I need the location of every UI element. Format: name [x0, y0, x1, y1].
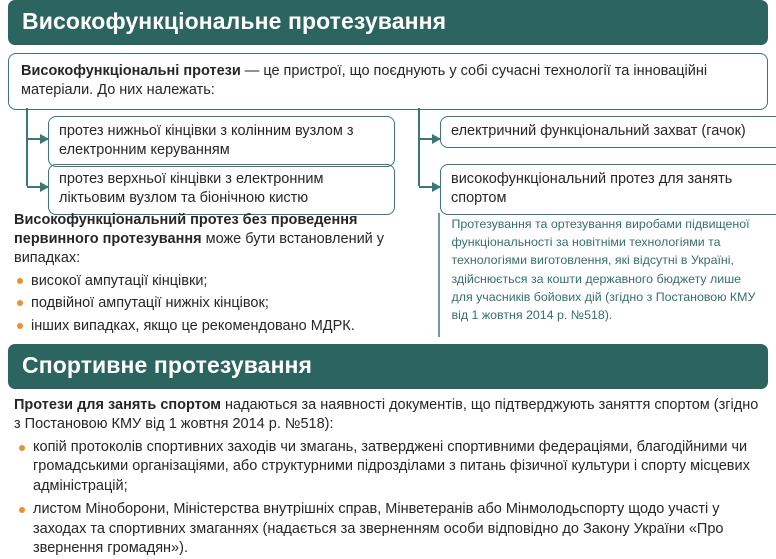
conditions-bullet-2: подвійної ампутації нижніх кінцівок;	[31, 295, 269, 311]
middle-two-column-block: Високофункціональний протез без проведен…	[8, 211, 768, 337]
funding-note-box: Протезування та ортезування виробами під…	[440, 211, 769, 324]
section-header-high-function: Високофункціональне протезування	[8, 0, 768, 45]
intro-bold-term: Високофункціональні протези	[21, 63, 241, 79]
branch-node-right-2: високофункціональний протез для занять с…	[440, 164, 776, 215]
list-item: високої ампутації кінцівки;	[14, 270, 438, 292]
list-item: листом Міноборони, Міністерства внутрішн…	[14, 500, 768, 559]
funding-note-text: Протезування та ортезування виробами під…	[452, 217, 756, 322]
branch-column-right: електричний функціональний захват (гачок…	[406, 114, 776, 206]
list-item: подвійної ампутації нижніх кінцівок;	[14, 292, 438, 314]
branch-node-left-1-label: протез нижньої кінцівки з колінним вузло…	[59, 123, 354, 158]
branch-arrow-right-1-icon	[419, 138, 440, 140]
sport-lead: Протези для занять спортом надаються за …	[14, 396, 768, 435]
conditions-column: Високофункціональний протез без проведен…	[8, 211, 438, 337]
branch-stem-right	[418, 108, 420, 186]
sport-bullet-list: копій протоколів спортивних заходів чи з…	[14, 438, 768, 559]
branch-node-right-1-label: електричний функціональний захват (гачок…	[451, 123, 746, 139]
sport-body: Протези для занять спортом надаються за …	[8, 396, 768, 559]
conditions-bullet-1: високої ампутації кінцівки;	[31, 273, 207, 289]
conditions-bullet-3: інших випадках, якщо це рекомендовано МД…	[31, 318, 355, 334]
branch-node-right-1: електричний функціональний захват (гачок…	[440, 116, 776, 148]
branch-arrow-right-2-icon	[419, 186, 440, 188]
conditions-bullet-list: високої ампутації кінцівки; подвійної ам…	[14, 270, 438, 337]
branch-node-left-2-label: протез верхньої кінцівки з електронним л…	[59, 171, 323, 206]
list-item: інших випадках, якщо це рекомендовано МД…	[14, 315, 438, 337]
sport-bullet-2: листом Міноборони, Міністерства внутрішн…	[33, 501, 723, 556]
intro-definition-box: Високофункціональні протези — це пристро…	[8, 53, 768, 110]
infographic-page: Високофункціональне протезування Високоф…	[0, 0, 776, 527]
branch-node-left-1: протез нижньої кінцівки з колінним вузло…	[48, 116, 395, 167]
branch-diagram: протез нижньої кінцівки з колінним вузло…	[8, 114, 768, 206]
sport-lead-bold: Протези для занять спортом	[14, 397, 221, 413]
branch-stem-left	[26, 108, 28, 186]
branch-arrow-left-1-icon	[27, 138, 48, 140]
section1-title: Високофункціональне протезування	[22, 8, 446, 34]
list-item: копій протоколів спортивних заходів чи з…	[14, 438, 768, 497]
conditions-lead: Високофункціональний протез без проведен…	[14, 211, 438, 268]
branch-arrow-left-2-icon	[27, 186, 48, 188]
branch-node-right-2-label: високофункціональний протез для занять с…	[451, 171, 732, 206]
section2-title: Спортивне протезування	[22, 352, 312, 378]
section-header-sport: Спортивне протезування	[8, 344, 768, 389]
branch-node-left-2: протез верхньої кінцівки з електронним л…	[48, 164, 395, 215]
sport-bullet-1: копій протоколів спортивних заходів чи з…	[33, 439, 750, 494]
branch-column-left: протез нижньої кінцівки з колінним вузло…	[14, 114, 395, 206]
